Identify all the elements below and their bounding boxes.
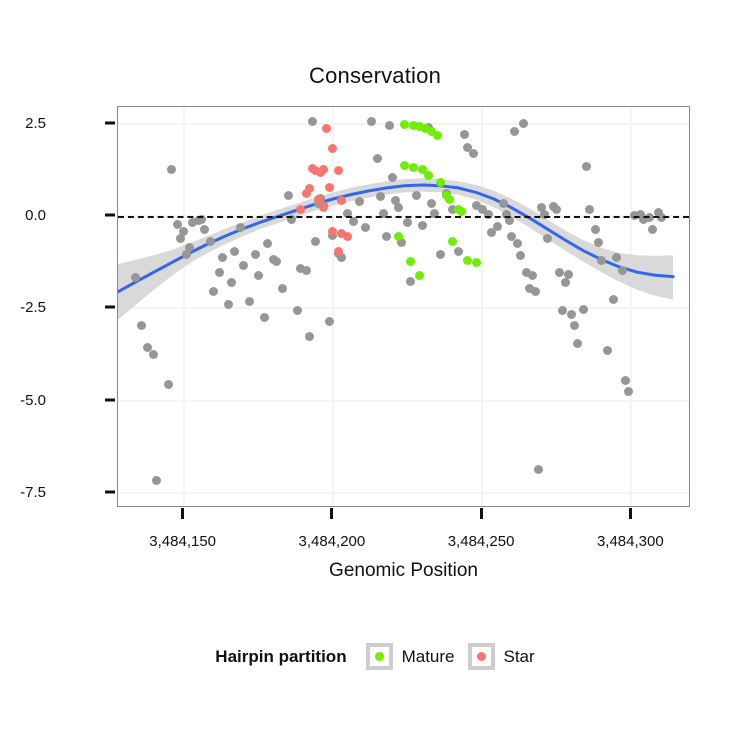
page-title: Conservation <box>0 63 750 89</box>
legend-entries: MatureStar <box>366 643 535 670</box>
legend-key <box>468 643 495 670</box>
data-point-other <box>293 306 302 315</box>
data-point-other <box>227 278 236 287</box>
data-point-other <box>454 247 463 256</box>
legend-dot-icon <box>375 652 384 661</box>
y-tick-mark <box>105 398 115 401</box>
data-point-other <box>499 199 508 208</box>
chart-root: Conservation phyloP LRT conservation sco… <box>0 0 750 750</box>
legend-key <box>366 643 393 670</box>
data-point-mature <box>445 195 454 204</box>
data-point-mature <box>394 232 403 241</box>
y-tick-label: -7.5 <box>0 484 46 501</box>
legend-dot-icon <box>477 652 486 661</box>
data-point-other <box>609 295 618 304</box>
data-point-other <box>305 332 314 341</box>
data-point-other <box>597 256 606 265</box>
data-point-other <box>263 239 272 248</box>
data-point-mature <box>463 256 472 265</box>
zero-reference-line <box>118 216 689 218</box>
y-tick-mark <box>105 491 115 494</box>
data-point-other <box>394 203 403 212</box>
x-axis-label: Genomic Position <box>117 560 690 582</box>
data-point-mature <box>406 257 415 266</box>
legend-label: Mature <box>402 647 455 667</box>
x-tick-label: 3,484,200 <box>262 533 402 550</box>
data-point-other <box>469 149 478 158</box>
data-point-star <box>296 205 305 214</box>
data-point-other <box>245 297 254 306</box>
data-point-other <box>648 225 657 234</box>
data-point-other <box>272 257 281 266</box>
data-point-other <box>418 221 427 230</box>
x-tick-label: 3,484,150 <box>113 533 253 550</box>
data-point-other <box>355 197 364 206</box>
legend-item-mature[interactable]: Mature <box>366 643 455 670</box>
data-point-other <box>218 253 227 262</box>
data-point-mature <box>472 258 481 267</box>
data-point-other <box>579 305 588 314</box>
y-tick-mark <box>105 121 115 124</box>
data-point-other <box>215 268 224 277</box>
data-point-other <box>230 247 239 256</box>
data-point-other <box>612 253 621 262</box>
data-point-other <box>260 313 269 322</box>
data-point-mature <box>448 237 457 246</box>
legend-title: Hairpin partition <box>215 647 346 667</box>
y-tick-label: -5.0 <box>0 392 46 409</box>
legend-item-star[interactable]: Star <box>468 643 535 670</box>
data-point-other <box>510 127 519 136</box>
data-point-other <box>361 223 370 232</box>
data-point-other <box>308 117 317 126</box>
data-point-mature <box>436 178 445 187</box>
data-point-star <box>334 247 343 256</box>
y-tick-label: 2.5 <box>0 115 46 132</box>
data-point-mature <box>424 171 433 180</box>
legend: Hairpin partition MatureStar <box>0 643 750 670</box>
x-tick-mark <box>330 508 333 519</box>
data-point-other <box>555 268 564 277</box>
data-point-other <box>185 243 194 252</box>
data-point-mature <box>400 120 409 129</box>
data-point-other <box>137 321 146 330</box>
data-point-other <box>564 270 573 279</box>
data-point-mature <box>457 207 466 216</box>
y-tick-label: -2.5 <box>0 299 46 316</box>
data-point-other <box>164 380 173 389</box>
x-tick-mark <box>629 508 632 519</box>
legend-label: Star <box>504 647 535 667</box>
data-point-other <box>278 284 287 293</box>
data-point-star <box>322 124 331 133</box>
data-point-other <box>284 191 293 200</box>
y-tick-mark <box>105 306 115 309</box>
data-point-other <box>624 387 633 396</box>
data-point-other <box>567 310 576 319</box>
data-point-other <box>582 162 591 171</box>
data-point-other <box>591 225 600 234</box>
y-tick-label: 0.0 <box>0 207 46 224</box>
data-point-mature <box>433 131 442 140</box>
data-point-other <box>585 205 594 214</box>
data-point-mature <box>409 163 418 172</box>
data-point-other <box>236 223 245 232</box>
plot-panel <box>117 106 690 507</box>
data-point-other <box>388 173 397 182</box>
data-point-other <box>534 465 543 474</box>
data-point-mature <box>400 161 409 170</box>
x-tick-mark <box>480 508 483 519</box>
data-point-other <box>302 266 311 275</box>
x-tick-label: 3,484,250 <box>411 533 551 550</box>
data-point-other <box>570 321 579 330</box>
data-point-other <box>493 222 502 231</box>
data-point-star <box>302 189 311 198</box>
data-point-other <box>311 237 320 246</box>
data-point-other <box>460 130 469 139</box>
data-point-other <box>427 199 436 208</box>
data-point-other <box>382 232 391 241</box>
data-point-other <box>131 273 140 282</box>
data-point-other <box>558 306 567 315</box>
x-tick-label: 3,484,300 <box>560 533 700 550</box>
y-tick-mark <box>105 214 115 217</box>
x-tick-mark <box>181 508 184 519</box>
data-point-other <box>621 376 630 385</box>
data-point-other <box>200 225 209 234</box>
